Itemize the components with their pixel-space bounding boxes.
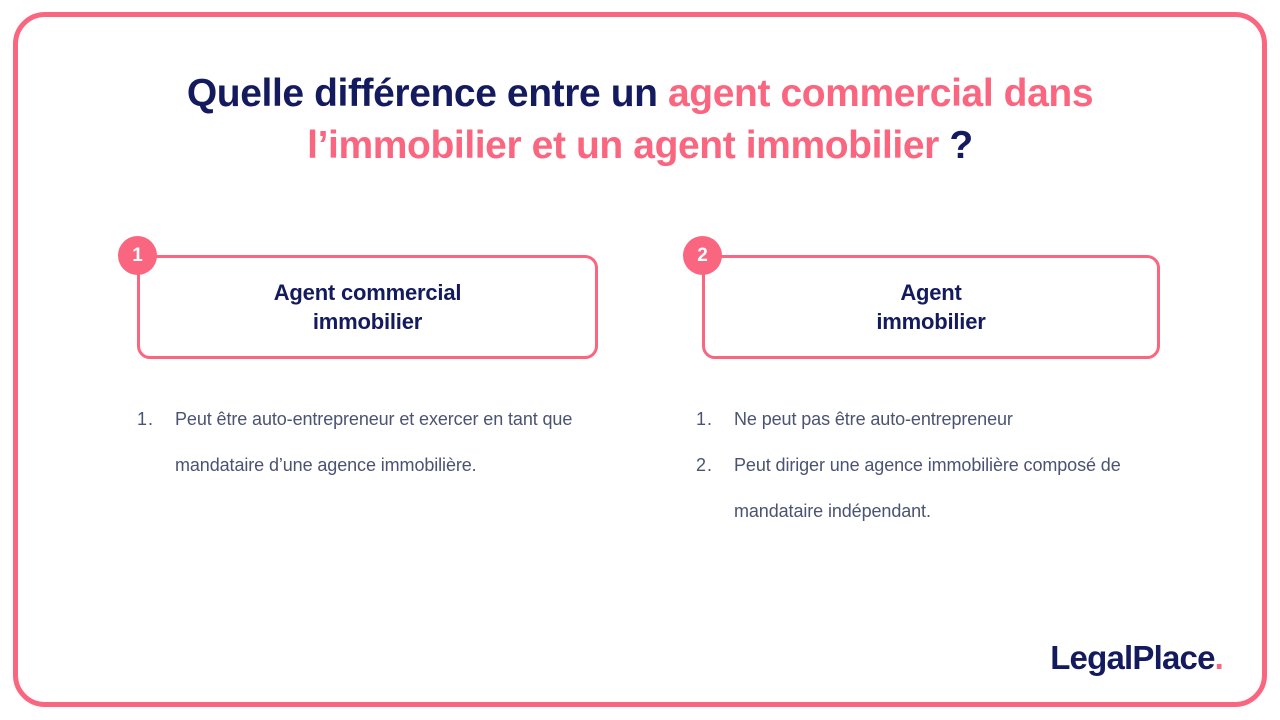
title-line2-pink-part: l’immobilier et un agent immobilier [307, 124, 949, 167]
card-title-2: Agent immobilier [876, 278, 985, 336]
list-column-agent-immobilier: 1. Ne peut pas être auto-entrepreneur 2.… [696, 396, 1166, 534]
list-item-number: 2. [696, 442, 734, 488]
logo-dot: . [1215, 639, 1223, 676]
list-item-number: 1. [696, 396, 734, 442]
list-item: 2. Peut diriger une agence immobilière c… [696, 442, 1166, 534]
title-line1-navy-part: Quelle différence entre un [187, 72, 668, 115]
card-box-1: Agent commercial immobilier [137, 255, 598, 359]
list-column-agent-commercial: 1. Peut être auto-entrepreneur et exerce… [137, 396, 607, 488]
card-agent-immobilier: Agent immobilier 2 [702, 255, 1160, 359]
page-title: Quelle différence entre un agent commerc… [64, 68, 1216, 172]
list-item: 1. Ne peut pas être auto-entrepreneur [696, 396, 1166, 442]
logo-wordmark: LegalPlace [1050, 639, 1214, 676]
card-badge-2: 2 [683, 236, 722, 275]
card-title-1: Agent commercial immobilier [274, 278, 462, 336]
card-box-2: Agent immobilier [702, 255, 1160, 359]
infographic-canvas: Quelle différence entre un agent commerc… [0, 0, 1280, 720]
list-item: 1. Peut être auto-entrepreneur et exerce… [137, 396, 607, 488]
list-item-text: Ne peut pas être auto-entrepreneur [734, 396, 1166, 442]
title-question-mark: ? [949, 124, 972, 167]
title-line1-pink-part: agent commercial dans [668, 72, 1093, 115]
list-item-text: Peut diriger une agence immobilière comp… [734, 442, 1166, 534]
legalplace-logo: LegalPlace. [1050, 641, 1223, 674]
card-badge-1: 1 [118, 236, 157, 275]
cards-row: Agent commercial immobilier 1 Agent immo… [0, 255, 1280, 365]
list-item-text: Peut être auto-entrepreneur et exercer e… [175, 396, 607, 488]
card-agent-commercial-immobilier: Agent commercial immobilier 1 [137, 255, 598, 359]
list-item-number: 1. [137, 396, 175, 442]
